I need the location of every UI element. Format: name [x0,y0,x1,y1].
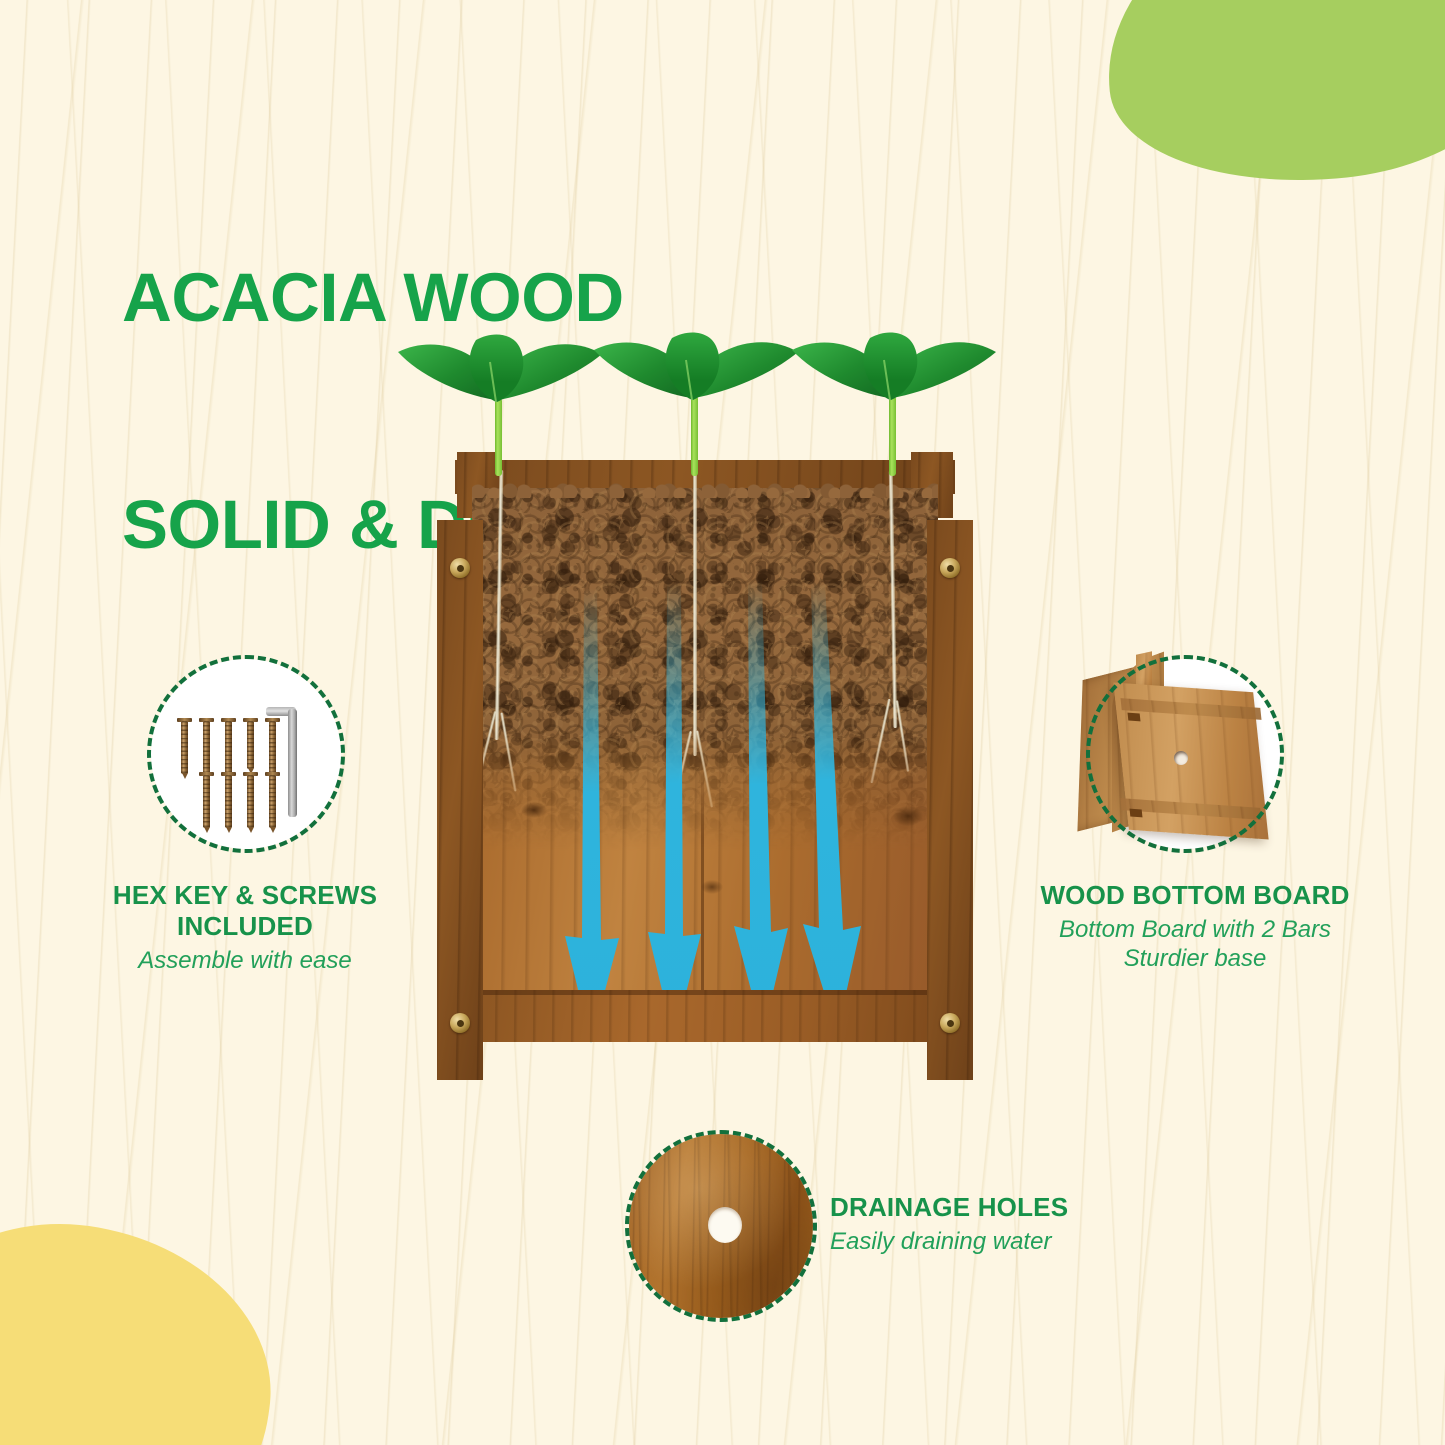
feature-subtitle-hex-key-screws: Assemble with ease [75,946,415,975]
screw-head-top-right [940,558,960,578]
planter-bottom-rail [470,990,940,1042]
screw-3 [225,721,232,774]
yellow-corner-blob [0,1199,291,1445]
screw-2 [203,721,210,774]
screw-7 [225,775,232,828]
planter-box-illustration [395,430,1015,1080]
hex-key-long-arm [288,709,297,817]
screw-head-bottom-right [940,1013,960,1033]
feature-title-hex-key-screws: HEX KEY & SCREWS INCLUDED [75,880,415,942]
page-title-line-1: ACACIA WOOD [122,260,751,336]
feature-label-wood-bottom-board: WOOD BOTTOM BOARD Bottom Board with 2 Ba… [1005,880,1385,974]
infographic-canvas: ACACIA WOOD SOLID & DURABLE [0,0,1445,1445]
screw-5 [269,721,276,774]
board-notch-top-left [1128,713,1141,722]
green-corner-blob [1091,0,1445,201]
seedling-right-leaves [784,330,1004,420]
planter-leg-right [927,520,973,1080]
feature-icon-wood-bottom-board [1086,655,1284,853]
screw-head-bottom-left [450,1013,470,1033]
feature-title-wood-bottom-board: WOOD BOTTOM BOARD [1005,880,1385,911]
seedling-left-leaves [390,332,610,422]
screw-9 [269,775,276,828]
feature-icon-hex-key-screws [147,655,345,853]
board-center-hole [1174,751,1188,765]
feature-icon-drainage-holes [625,1130,817,1322]
feature-label-drainage-holes: DRAINAGE HOLES Easily draining water [830,1192,1150,1256]
drainage-arrow-2 [631,582,721,1044]
drainage-arrow-1 [547,588,637,1048]
screw-6 [203,775,210,828]
board-notch-bottom-left [1130,809,1143,818]
feature-subtitle-wood-bottom-board: Bottom Board with 2 Bars Sturdier base [1005,915,1385,974]
seedling-center-leaves [586,330,806,420]
wood-knot-1 [521,802,547,818]
planter-leg-left [437,520,483,1080]
feature-title-drainage-holes: DRAINAGE HOLES [830,1192,1150,1223]
drainage-arrow-4 [785,582,885,1040]
wood-board-assembly [1090,659,1280,849]
screw-head-top-left [450,558,470,578]
planter-bottom-rail-shadow [470,990,940,995]
screw-1 [181,721,188,774]
soil-top-edge [472,482,938,498]
icon-circle-background [151,659,341,849]
feature-label-hex-key-screws: HEX KEY & SCREWS INCLUDED Assemble with … [75,880,415,976]
screw-8 [247,775,254,828]
drainage-hole [708,1207,742,1243]
wood-knot-2 [893,806,923,826]
feature-subtitle-drainage-holes: Easily draining water [830,1227,1150,1256]
screw-4 [247,721,254,769]
